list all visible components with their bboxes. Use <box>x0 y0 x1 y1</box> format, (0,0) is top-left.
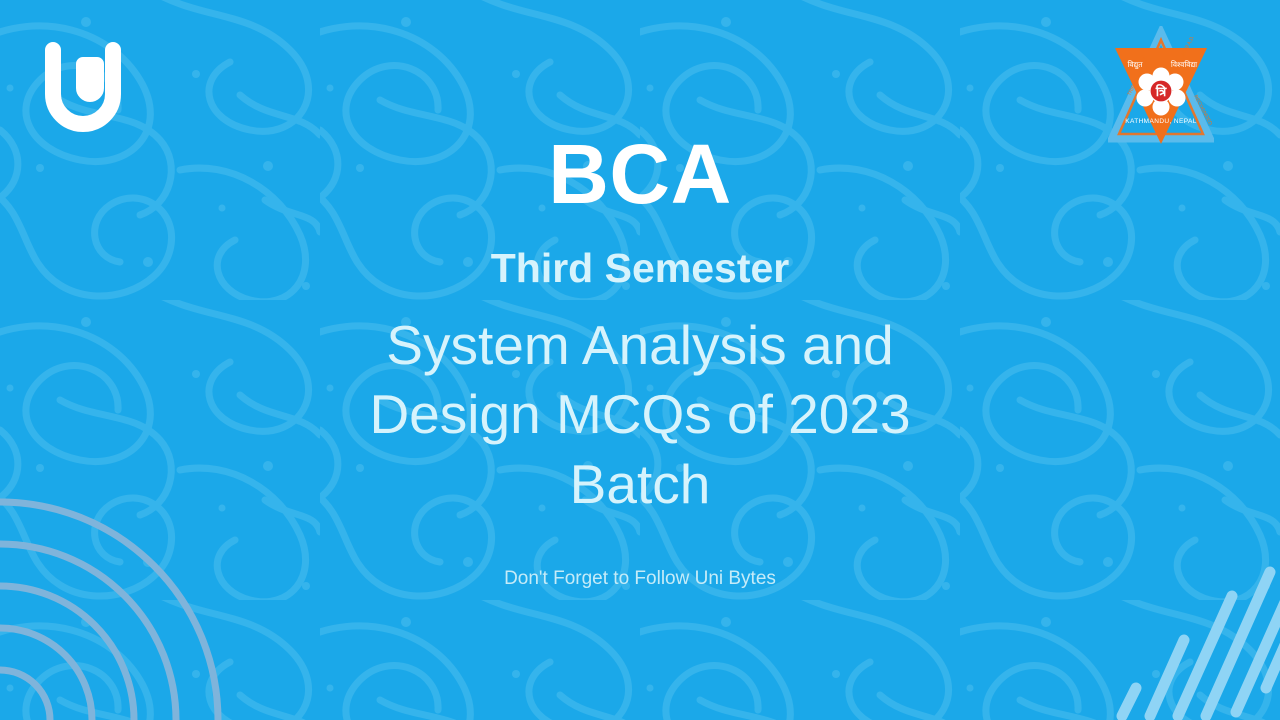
title-text-block: BCA Third Semester System Analysis and D… <box>0 0 1280 720</box>
follow-prompt-text: Don't Forget to Follow Uni Bytes <box>504 569 776 588</box>
semester-subheading: Third Semester <box>491 248 790 289</box>
title-slide: विद्युत विश्वविद्या KATHMANDU, NEPAL TRI… <box>0 0 1280 720</box>
subject-title: System Analysis and Design MCQs of 2023 … <box>300 311 980 519</box>
course-code-heading: BCA <box>548 132 732 216</box>
